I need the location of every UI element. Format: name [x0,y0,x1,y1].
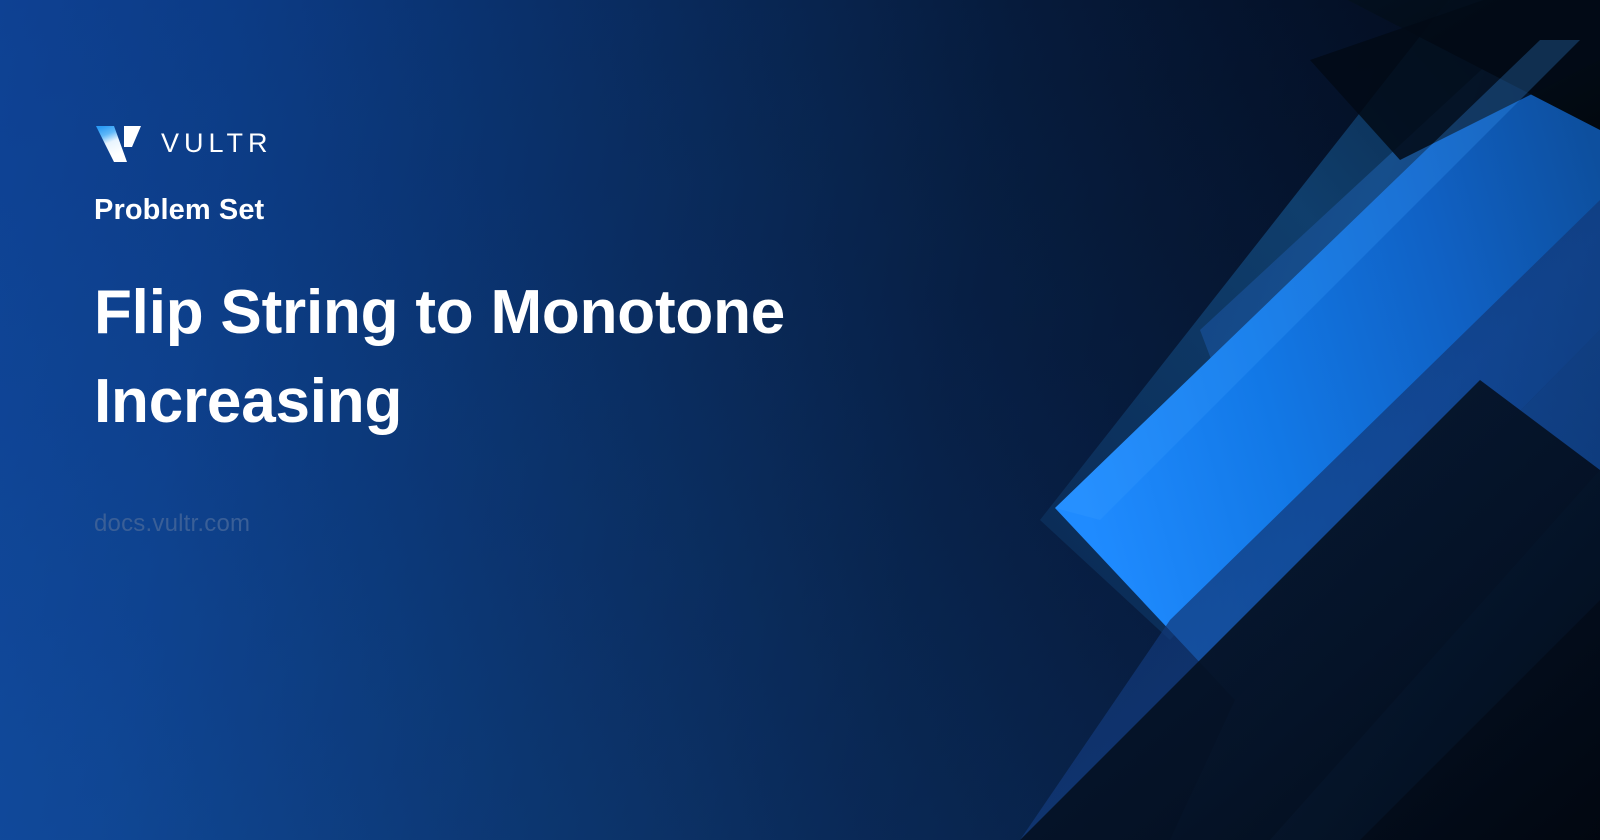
vultr-wordmark: VULTR [161,130,273,157]
vultr-v-logo-icon [94,118,144,168]
vultr-docs-banner: VULTR Problem Set Flip String to Monoton… [0,0,1600,840]
footer-url: docs.vultr.com [94,508,250,539]
category-eyebrow: Problem Set [94,192,264,228]
vultr-logo-lockup[interactable]: VULTR [94,118,273,168]
banner-content: VULTR Problem Set Flip String to Monoton… [94,0,994,840]
page-title: Flip String to Monotone Increasing [94,268,794,447]
